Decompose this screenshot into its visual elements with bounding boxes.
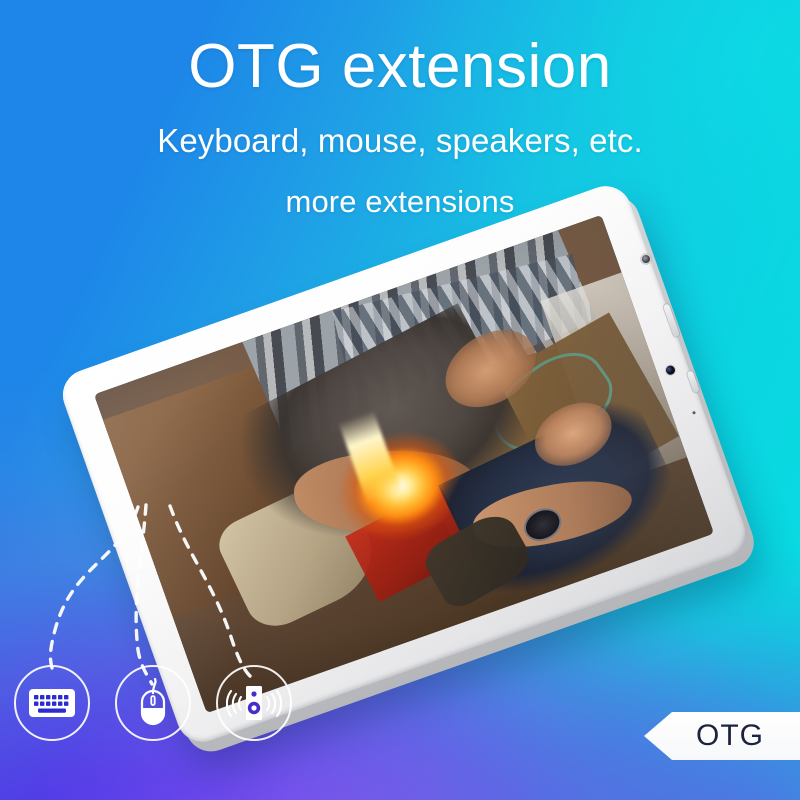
otg-badge: OTG xyxy=(644,712,800,760)
mouse-icon xyxy=(131,677,175,729)
peripheral-keyboard[interactable] xyxy=(14,665,90,741)
advertisement-banner: OTG extension Keyboard, mouse, speakers,… xyxy=(0,0,800,800)
subtitle-two: more extensions xyxy=(0,184,800,220)
keyboard-icon xyxy=(28,686,76,720)
microphone-icon xyxy=(692,411,696,415)
page-title: OTG extension xyxy=(0,34,800,100)
otg-badge-label: OTG xyxy=(696,712,764,760)
speaker-icon xyxy=(226,683,282,723)
peripheral-speaker[interactable] xyxy=(216,665,292,741)
peripheral-icons-row xyxy=(0,652,320,756)
front-camera-icon xyxy=(665,364,676,375)
peripheral-mouse[interactable] xyxy=(115,665,191,741)
subtitle-one: Keyboard, mouse, speakers, etc. xyxy=(0,122,800,160)
headline-block: OTG extension Keyboard, mouse, speakers,… xyxy=(0,34,800,220)
